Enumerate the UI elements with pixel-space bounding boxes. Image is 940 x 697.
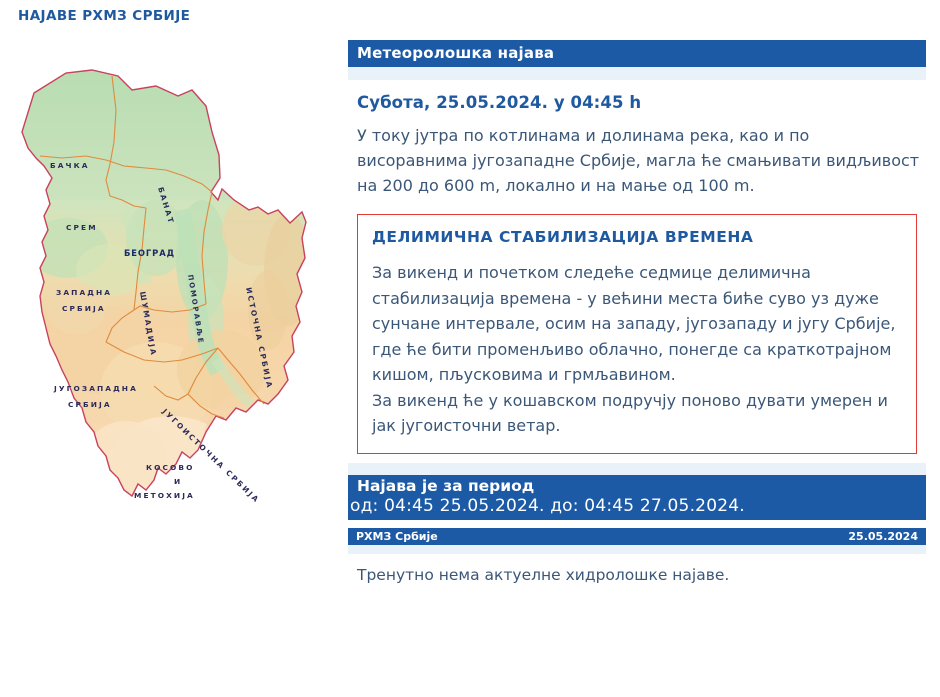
hydro-note: Тренутно нема актуелне хидролошке најаве… xyxy=(348,554,926,584)
map-label-zapadna-srbija: ЗАПАДНА xyxy=(56,288,112,297)
page-root: НАЈАВЕ РХМЗ СРБИЈЕ xyxy=(0,0,940,697)
highlight-paragraph-1: За викенд и почетком следеће седмице дел… xyxy=(372,260,902,388)
footer-source: РХМЗ Србије xyxy=(356,528,438,545)
map-label-beograd: БЕОГРАД xyxy=(124,248,175,258)
map-label-jugozapadna: ЈУГОЗАПАДНА xyxy=(53,384,138,393)
forecast-date: Субота, 25.05.2024. у 04:45 h xyxy=(348,89,926,114)
map-label-kosovo: КОСОВО xyxy=(146,463,195,472)
footer-date: 25.05.2024 xyxy=(848,528,918,545)
highlight-title: ДЕЛИМИЧНА СТАБИЛИЗАЦИЈА ВРЕМЕНА xyxy=(372,228,902,246)
map-label-kosovo-2: И xyxy=(174,477,182,486)
spacer-1 xyxy=(348,80,926,89)
highlight-box: ДЕЛИМИЧНА СТАБИЛИЗАЦИЈА ВРЕМЕНА За викен… xyxy=(357,214,917,454)
highlight-paragraph-2: За викенд ће у кошавском подручју поново… xyxy=(372,388,902,439)
map-label-srem: СРЕМ xyxy=(66,223,98,232)
note-strip xyxy=(348,545,926,554)
forecast-header-bar: Метеоролошка најава xyxy=(348,40,926,67)
period-gap-strip xyxy=(348,463,926,475)
forecast-body: У току јутра по котлинама и долинама рек… xyxy=(348,114,926,198)
spacer-2 xyxy=(348,520,926,528)
page-title: НАЈАВЕ РХМЗ СРБИЈЕ xyxy=(18,8,190,24)
period-label: Најава је за период xyxy=(348,477,926,496)
serbia-map: БАЧКА БАНАТ СРЕМ БЕОГРАД ЗАПАДНА СРБИЈА … xyxy=(6,60,342,530)
map-label-zapadna-srbija-2: СРБИЈА xyxy=(62,304,106,313)
map-label-backa: БАЧКА xyxy=(50,161,90,170)
source-footer-bar: РХМЗ Србије 25.05.2024 xyxy=(348,528,926,545)
period-range: од: 04:45 25.05.2024. до: 04:45 27.05.20… xyxy=(348,496,926,517)
period-band: Најава је за период од: 04:45 25.05.2024… xyxy=(348,475,926,520)
forecast-panel: Метеоролошка најава Субота, 25.05.2024. … xyxy=(348,40,926,584)
map-label-metohija: МЕТОХИЈА xyxy=(134,491,195,500)
map-label-jugozapadna-2: СРБИЈА xyxy=(68,400,112,409)
header-understrip xyxy=(348,67,926,80)
